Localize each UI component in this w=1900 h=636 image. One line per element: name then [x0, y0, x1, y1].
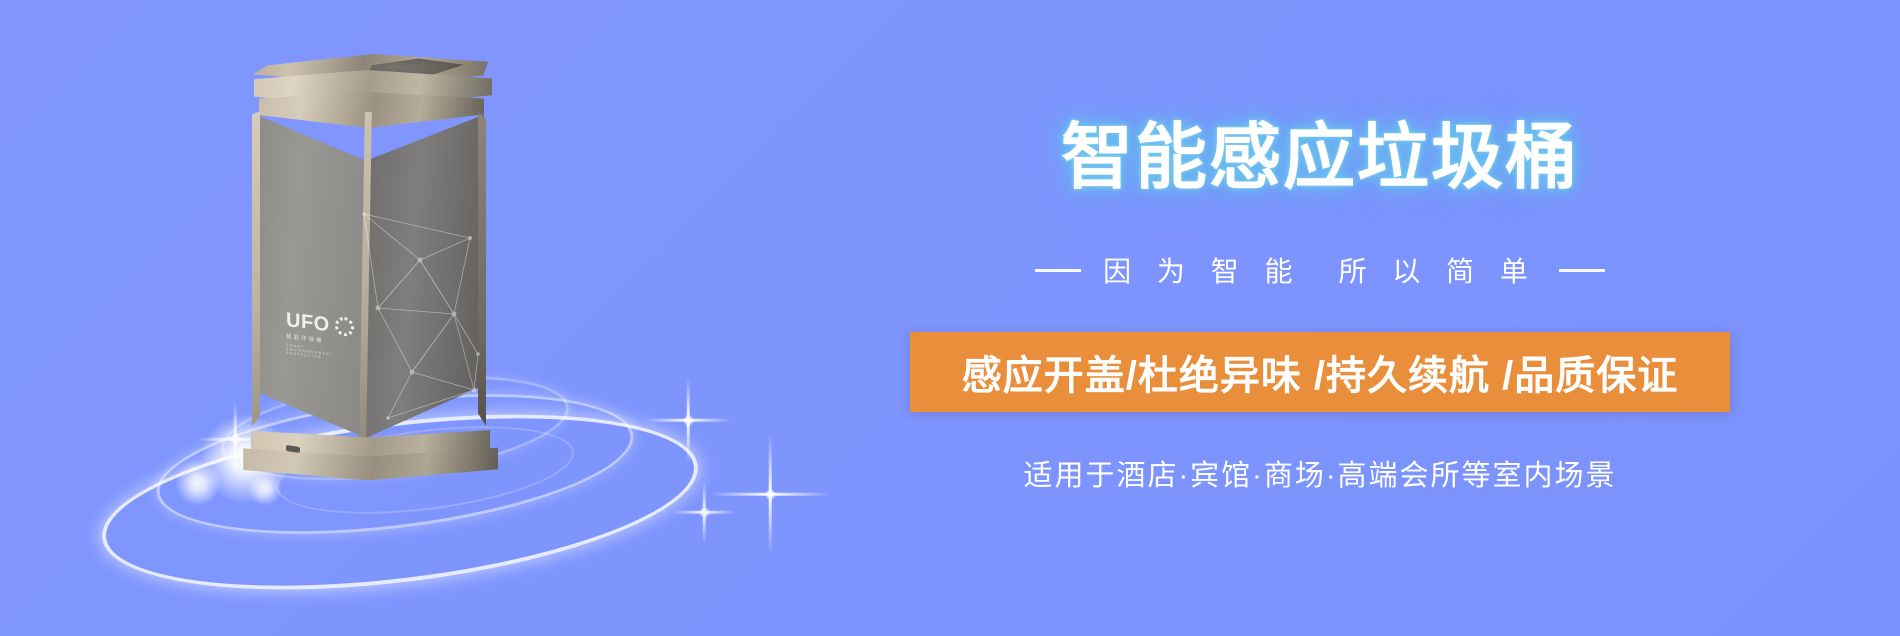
polygon-mesh-graphic	[358, 204, 488, 424]
tagline-rule-left	[1035, 269, 1081, 272]
page-title: 智能感应垃圾桶	[880, 122, 1760, 194]
product-image-trash-bin: UFO 智能环保桶 SMART ENVIRONMENTAL PROTECTION	[238, 54, 498, 454]
features-badge: 感应开盖/杜绝异味 /持久续航 /品质保证	[910, 332, 1730, 412]
glow-blob	[248, 472, 282, 506]
product-promo-banner: UFO 智能环保桶 SMART ENVIRONMENTAL PROTECTION…	[0, 0, 1900, 636]
usage-caption: 适用于酒店·宾馆·商场·高端会所等室内场景	[880, 452, 1760, 494]
marketing-copy-block: 智能感应垃圾桶 因 为 智 能 所 以 简 单 感应开盖/杜绝异味 /持久续航 …	[880, 0, 1900, 636]
features-badge-text: 感应开盖/杜绝异味 /持久续航 /品质保证	[962, 343, 1679, 401]
product-scene: UFO 智能环保桶 SMART ENVIRONMENTAL PROTECTION	[0, 0, 860, 636]
sparkle-star-icon	[672, 480, 736, 544]
tagline-rule-right	[1559, 269, 1605, 272]
brand-logo: UFO 智能环保桶 SMART ENVIRONMENTAL PROTECTION	[286, 310, 352, 364]
tagline-row: 因 为 智 能 所 以 简 单	[880, 250, 1760, 290]
bin-body-left-face	[256, 108, 366, 438]
bin-edge-far	[252, 108, 260, 426]
tagline-text: 因 为 智 能 所 以 简 单	[1103, 250, 1537, 290]
